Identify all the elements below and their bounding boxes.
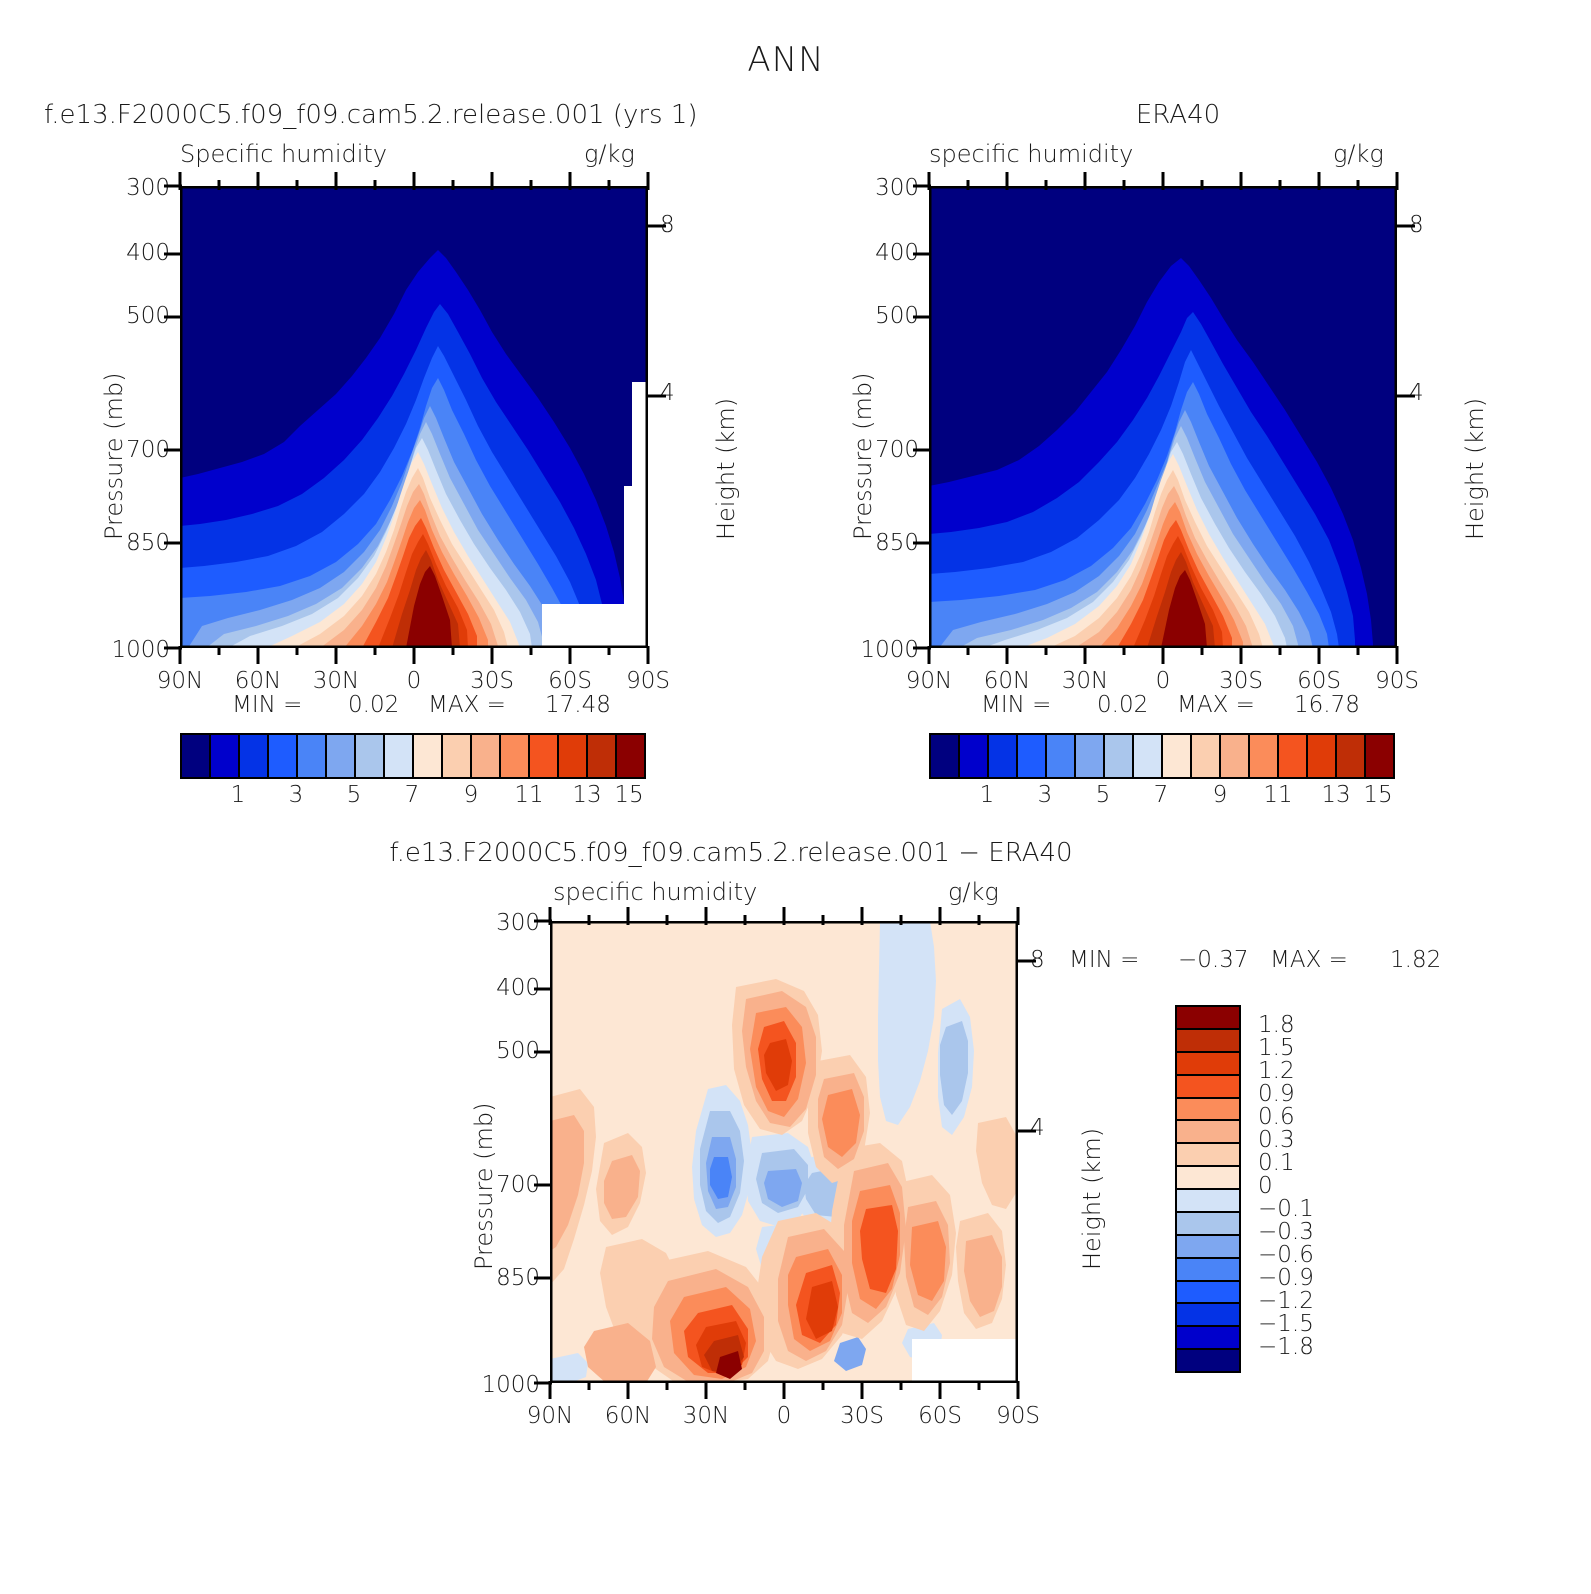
obs-cbar-tick-3: 3	[1038, 782, 1053, 808]
model-cbar-tick-9: 9	[464, 782, 479, 808]
obs-bottom-ticks	[927, 646, 1401, 668]
colorbar-swatch	[470, 735, 499, 777]
colorbar-swatch	[1364, 735, 1393, 777]
colorbar-swatch	[931, 735, 958, 777]
diff-bottom-ticks	[548, 1381, 1022, 1403]
diff-top-ticks	[548, 903, 1022, 925]
obs-right-ticks	[1395, 184, 1415, 652]
colorbar-swatch	[1177, 1348, 1239, 1371]
obs-cbar-tick-9: 9	[1213, 782, 1228, 808]
diff-xtick-60S: 60S	[918, 1403, 962, 1429]
obs-y2label: Height (km)	[1461, 398, 1489, 540]
obs-xtick-30N: 30N	[1062, 668, 1108, 694]
obs-cbar-tick-15: 15	[1363, 782, 1392, 808]
model-cbar-tick-7: 7	[405, 782, 420, 808]
obs-left-ticks	[913, 184, 933, 652]
diff-contour-plot	[550, 921, 1018, 1383]
diff-max-value: 1.82	[1390, 947, 1441, 973]
obs-colorbar[interactable]	[929, 733, 1395, 779]
model-min-label: MIN =	[232, 692, 302, 718]
diff-xtick-90S: 90S	[996, 1403, 1040, 1429]
diff-colorbar-labels: 1.81.51.20.90.60.30.10−0.1−0.3−0.6−0.9−1…	[1250, 1005, 1380, 1373]
obs-cbar-tick-1: 1	[980, 782, 995, 808]
colorbar-swatch	[615, 735, 644, 777]
obs-plot-area	[929, 186, 1397, 648]
diff-panel-title: f.e13.F2000C5.f09_f09.cam5.2.release.001…	[389, 838, 1072, 868]
colorbar-swatch	[325, 735, 354, 777]
model-cbar-tick-1: 1	[231, 782, 246, 808]
colorbar-swatch	[1177, 1325, 1239, 1348]
obs-contour-plot	[929, 186, 1397, 648]
colorbar-swatch	[1177, 1097, 1239, 1120]
obs-cbar-tick-11: 11	[1263, 782, 1292, 808]
model-units-label: g/kg	[584, 140, 635, 168]
diff-left-ticks	[534, 919, 554, 1387]
model-max-value: 17.48	[545, 692, 611, 718]
diff-plot-area	[550, 921, 1018, 1383]
model-top-ticks	[178, 168, 652, 190]
colorbar-swatch	[1177, 1280, 1239, 1303]
model-xtick-30N: 30N	[313, 668, 359, 694]
colorbar-swatch	[1219, 735, 1248, 777]
colorbar-swatch	[1177, 1142, 1239, 1165]
colorbar-swatch	[182, 735, 209, 777]
model-max-label: MAX =	[428, 692, 506, 718]
colorbar-swatch	[267, 735, 296, 777]
model-min-value: 0.02	[348, 692, 399, 718]
colorbar-swatch	[1177, 1188, 1239, 1211]
model-ytick-1000: 1000	[110, 637, 170, 663]
model-xtick-60S: 60S	[548, 668, 592, 694]
colorbar-swatch	[586, 735, 615, 777]
diff-xtick-30N: 30N	[683, 1403, 729, 1429]
obs-xtick-0: 0	[1156, 668, 1171, 694]
colorbar-swatch	[1074, 735, 1103, 777]
colorbar-swatch	[1177, 1074, 1239, 1097]
obs-max-label: MAX =	[1177, 692, 1255, 718]
diff-colorbar-tick: −1.8	[1258, 1334, 1314, 1360]
diff-colorbar[interactable]	[1175, 1005, 1241, 1373]
model-y2label: Height (km)	[712, 398, 740, 540]
diff-xtick-0: 0	[777, 1403, 792, 1429]
colorbar-swatch	[383, 735, 412, 777]
obs-cbar-tick-7: 7	[1154, 782, 1169, 808]
colorbar-swatch	[209, 735, 238, 777]
diff-xtick-30S: 30S	[840, 1403, 884, 1429]
colorbar-swatch	[1335, 735, 1364, 777]
obs-units-label: g/kg	[1333, 140, 1384, 168]
colorbar-swatch	[1177, 1051, 1239, 1074]
colorbar-swatch	[499, 735, 528, 777]
colorbar-swatch	[1177, 1257, 1239, 1280]
figure-main-title: ANN	[747, 40, 824, 80]
colorbar-swatch	[528, 735, 557, 777]
model-panel-title: f.e13.F2000C5.f09_f09.cam5.2.release.001…	[44, 100, 698, 130]
colorbar-swatch	[296, 735, 325, 777]
model-contour-plot	[180, 186, 648, 648]
colorbar-swatch	[987, 735, 1016, 777]
obs-xtick-60S: 60S	[1297, 668, 1341, 694]
colorbar-swatch	[441, 735, 470, 777]
colorbar-swatch	[1177, 1028, 1239, 1051]
model-cbar-tick-11: 11	[514, 782, 543, 808]
obs-cbar-tick-5: 5	[1096, 782, 1111, 808]
model-cbar-tick-3: 3	[289, 782, 304, 808]
colorbar-swatch	[412, 735, 441, 777]
model-xtick-0: 0	[407, 668, 422, 694]
obs-panel-title: ERA40	[1136, 100, 1220, 130]
model-xtick-90N: 90N	[157, 668, 203, 694]
colorbar-swatch	[958, 735, 987, 777]
model-bottom-ticks	[178, 646, 652, 668]
model-plot-area	[180, 186, 648, 648]
obs-top-ticks	[927, 168, 1401, 190]
colorbar-swatch	[1177, 1234, 1239, 1257]
colorbar-swatch	[1277, 735, 1306, 777]
colorbar-swatch	[1103, 735, 1132, 777]
diff-xtick-90N: 90N	[527, 1403, 573, 1429]
diff-units-label: g/kg	[948, 878, 999, 906]
colorbar-swatch	[1177, 1119, 1239, 1142]
obs-xtick-90S: 90S	[1375, 668, 1419, 694]
obs-xtick-60N: 60N	[984, 668, 1030, 694]
obs-min-label: MIN =	[981, 692, 1051, 718]
colorbar-swatch	[1177, 1211, 1239, 1234]
model-field-label: Specific humidity	[180, 140, 387, 168]
colorbar-swatch	[1161, 735, 1190, 777]
diff-ytick-1000: 1000	[480, 1372, 540, 1398]
colorbar-swatch	[557, 735, 586, 777]
model-cbar-tick-5: 5	[347, 782, 362, 808]
colorbar-swatch	[354, 735, 383, 777]
colorbar-swatch	[1132, 735, 1161, 777]
colorbar-swatch	[1045, 735, 1074, 777]
model-right-ticks	[646, 184, 666, 652]
diff-y2label: Height (km)	[1078, 1128, 1106, 1270]
model-xtick-90S: 90S	[626, 668, 670, 694]
diff-field-label: specific humidity	[553, 878, 757, 906]
colorbar-swatch	[238, 735, 267, 777]
model-cbar-tick-13: 13	[572, 782, 601, 808]
model-left-ticks	[164, 184, 184, 652]
diff-xtick-60N: 60N	[605, 1403, 651, 1429]
diff-max-label: MAX =	[1270, 947, 1348, 973]
obs-min-value: 0.02	[1097, 692, 1148, 718]
colorbar-swatch	[1177, 1165, 1239, 1188]
obs-field-label: specific humidity	[929, 140, 1133, 168]
diff-right-ticks	[1016, 919, 1036, 1387]
colorbar-swatch	[1177, 1007, 1239, 1028]
obs-cbar-tick-13: 13	[1321, 782, 1350, 808]
diff-min-value: −0.37	[1178, 947, 1248, 973]
colorbar-swatch	[1306, 735, 1335, 777]
obs-xtick-30S: 30S	[1219, 668, 1263, 694]
diff-min-label: MIN =	[1069, 947, 1139, 973]
model-xtick-60N: 60N	[235, 668, 281, 694]
model-colorbar[interactable]	[180, 733, 646, 779]
model-xtick-30S: 30S	[470, 668, 514, 694]
model-cbar-tick-15: 15	[614, 782, 643, 808]
colorbar-swatch	[1016, 735, 1045, 777]
colorbar-swatch	[1177, 1302, 1239, 1325]
colorbar-swatch	[1190, 735, 1219, 777]
obs-max-value: 16.78	[1294, 692, 1360, 718]
obs-ytick-1000: 1000	[859, 637, 919, 663]
obs-xtick-90N: 90N	[906, 668, 952, 694]
colorbar-swatch	[1248, 735, 1277, 777]
